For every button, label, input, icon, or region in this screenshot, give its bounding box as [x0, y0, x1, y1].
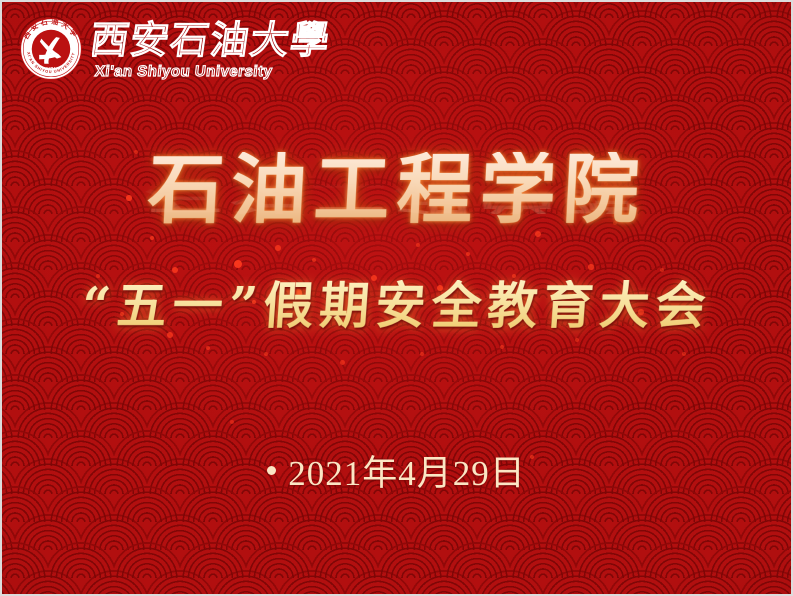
event-date: 2021年4月29日 — [267, 445, 526, 496]
wordmark-english: Xi'an Shiyou University — [92, 61, 422, 81]
presentation-slide: 西安石油大学 XI'AN SHIYOU UNIVERSITY 1951 西安石油… — [0, 0, 793, 596]
svg-text:西安石油大學: 西安石油大學 — [92, 18, 334, 63]
bullet-icon — [267, 466, 276, 475]
subtitle-block: “五一”假期安全教育大会 — [2, 280, 791, 333]
university-wordmark: 西安石油大學 Xi'an Shiyou University — [92, 17, 422, 81]
wordmark-chinese: 西安石油大學 — [92, 17, 422, 63]
event-date-text: 2021年4月29日 — [288, 445, 526, 496]
svg-text:1951: 1951 — [46, 66, 57, 71]
date-block: 2021年4月29日 — [2, 445, 791, 496]
page-subtitle: “五一”假期安全教育大会 — [80, 280, 713, 333]
title-block: 石油工程学院 石油工程学院 — [2, 152, 791, 290]
page-title: 石油工程学院 — [146, 152, 648, 228]
university-crest-icon: 西安石油大学 XI'AN SHIYOU UNIVERSITY 1951 — [14, 12, 88, 86]
university-logo-lockup: 西安石油大学 XI'AN SHIYOU UNIVERSITY 1951 西安石油… — [14, 12, 422, 86]
svg-text:Xi'an Shiyou University: Xi'an Shiyou University — [94, 63, 273, 80]
